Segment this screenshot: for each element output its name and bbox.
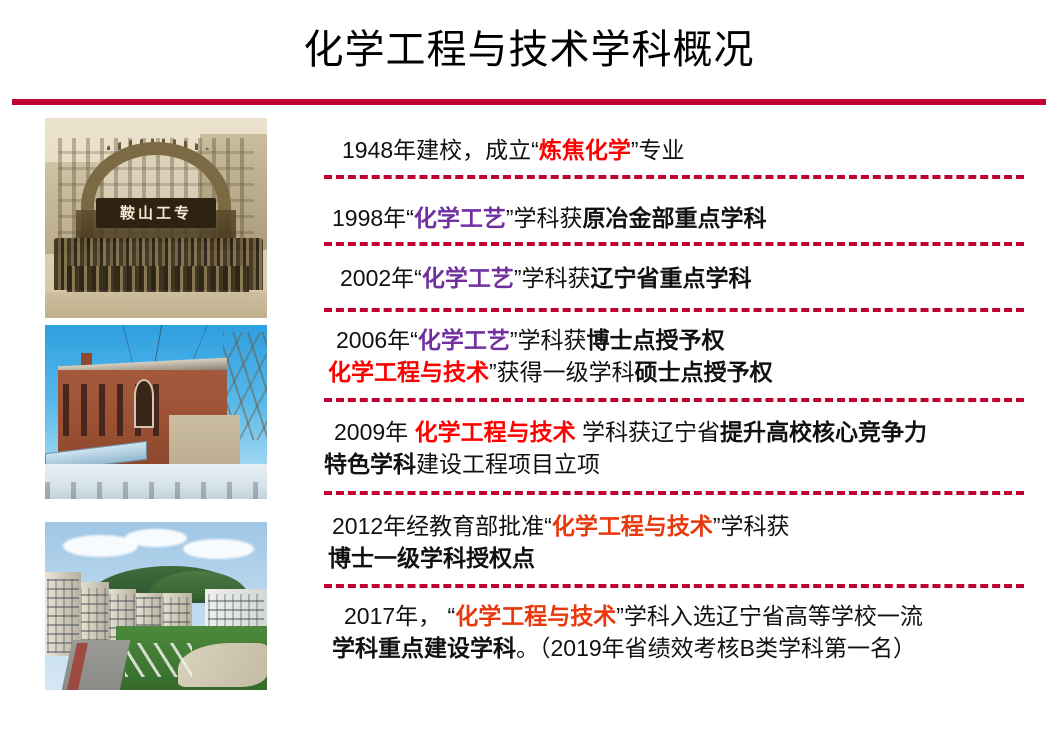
timeline-item-2012: 2012年经教育部批准“化学工程与技术”学科获 博士一级学科授权点 <box>300 510 1045 574</box>
timeline-separator-1 <box>324 175 1024 179</box>
timeline-item-1948: 1948年建校，成立“炼焦化学”专业 <box>300 134 1045 166</box>
modern-campus-photo <box>45 522 267 690</box>
timeline-item-2009: 2009年 化学工程与技术 学科获辽宁省提升高校核心竞争力 特色学科建设工程项目… <box>300 416 1045 480</box>
archway-banner-text: 鞍山工专 <box>96 198 216 228</box>
timeline-item-2002-line-1: 2002年“化学工艺”学科获辽宁省重点学科 <box>300 262 1045 294</box>
page-title: 化学工程与技术学科概况 <box>0 24 1058 76</box>
timeline-item-2002: 2002年“化学工艺”学科获辽宁省重点学科 <box>300 262 1045 294</box>
timeline-item-1998: 1998年“化学工艺”学科获原冶金部重点学科 <box>300 202 1045 234</box>
timeline-item-2017: 2017年， “化学工程与技术”学科入选辽宁省高等学校一流 学科重点建设学科。（… <box>300 600 1045 664</box>
timeline-item-2017-line-2: 学科重点建设学科。（2019年省绩效考核B类学科第一名） <box>300 632 1045 664</box>
slide-header: 化学工程与技术学科概况 <box>0 24 1058 76</box>
timeline-item-2012-line-2: 博士一级学科授权点 <box>300 542 1045 574</box>
slide-root: 化学工程与技术学科概况 鞍山工专 <box>0 0 1058 734</box>
timeline-item-2017-line-1: 2017年， “化学工程与技术”学科入选辽宁省高等学校一流 <box>300 600 1045 632</box>
timeline-separator-3 <box>324 308 1024 312</box>
timeline-item-2006-line-1: 2006年“化学工艺”学科获博士点授予权 <box>300 324 1045 356</box>
timeline-item-1998-line-1: 1998年“化学工艺”学科获原冶金部重点学科 <box>300 202 1045 234</box>
timeline-separator-2 <box>324 242 1024 246</box>
timeline-separator-4 <box>324 398 1024 402</box>
timeline-item-2009-line-2: 特色学科建设工程项目立项 <box>300 448 1045 480</box>
timeline-separator-6 <box>324 584 1024 588</box>
timeline-item-2012-line-1: 2012年经教育部批准“化学工程与技术”学科获 <box>300 510 1045 542</box>
timeline-separator-5 <box>324 491 1024 495</box>
archway-banner: 鞍山工专 <box>96 198 216 228</box>
old-brick-building-photo <box>45 325 267 499</box>
timeline-item-2009-line-1: 2009年 化学工程与技术 学科获辽宁省提升高校核心竞争力 <box>300 416 1045 448</box>
timeline-item-2006-line-2: 化学工程与技术”获得一级学科硕士点授予权 <box>300 356 1045 388</box>
timeline-item-2006: 2006年“化学工艺”学科获博士点授予权 化学工程与技术”获得一级学科硕士点授予… <box>300 324 1045 388</box>
title-divider-rule <box>12 99 1046 105</box>
historical-archway-group-photo: 鞍山工专 <box>45 118 267 318</box>
timeline-item-1948-line-1: 1948年建校，成立“炼焦化学”专业 <box>300 134 1045 166</box>
